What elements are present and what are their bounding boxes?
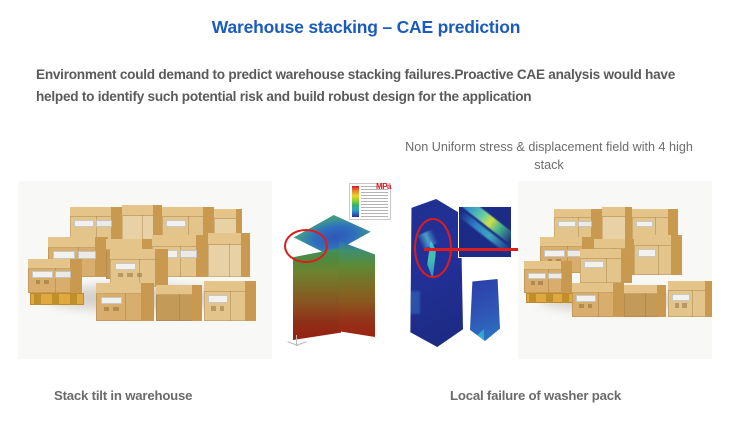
carton bbox=[96, 283, 154, 321]
fea-side-face bbox=[339, 241, 375, 337]
carton bbox=[156, 285, 202, 321]
carton bbox=[668, 281, 712, 317]
failure-highlight-ellipse-icon bbox=[414, 218, 452, 278]
carton-stack-scene bbox=[18, 181, 272, 359]
body-paragraph: Environment could demand to predict ware… bbox=[36, 64, 701, 108]
caption-stack-tilt: Stack tilt in warehouse bbox=[54, 388, 192, 403]
image-band: MPa bbox=[0, 181, 732, 359]
washer-viewport bbox=[400, 181, 518, 359]
pallet bbox=[526, 293, 574, 303]
carton bbox=[524, 261, 572, 293]
cae-washer-pack bbox=[400, 181, 518, 359]
carton bbox=[572, 283, 624, 317]
page-title: Warehouse stacking – CAE prediction bbox=[0, 17, 732, 38]
carton-stack-scene bbox=[518, 181, 712, 359]
displacement-highlight bbox=[409, 291, 420, 315]
axis-triad-icon bbox=[286, 335, 308, 355]
carton bbox=[204, 281, 256, 321]
inset-stress-band bbox=[458, 206, 512, 244]
pallet bbox=[30, 293, 84, 305]
washer-pack-secondary-model bbox=[470, 279, 500, 341]
fea-viewport: MPa bbox=[278, 181, 396, 359]
slide-canvas: Warehouse stacking – CAE prediction Envi… bbox=[0, 0, 732, 441]
carton bbox=[580, 249, 632, 283]
caption-local-failure: Local failure of washer pack bbox=[450, 388, 621, 403]
colorbar-unit-label: MPa bbox=[376, 183, 391, 191]
cae-annotation-label: Non Uniform stress & displacement field … bbox=[404, 138, 694, 174]
carton bbox=[634, 235, 682, 275]
carton bbox=[28, 259, 82, 293]
carton bbox=[624, 285, 666, 317]
washer-tip-stress bbox=[472, 321, 484, 340]
colorbar-gradient bbox=[352, 186, 359, 217]
photo-warehouse-left bbox=[18, 181, 272, 359]
cae-stack-contour: MPa bbox=[278, 181, 396, 359]
carton bbox=[110, 249, 168, 287]
carton bbox=[602, 207, 632, 241]
carton bbox=[208, 233, 250, 277]
photo-warehouse-right bbox=[518, 181, 712, 359]
failure-highlight-ellipse-icon bbox=[284, 229, 328, 263]
